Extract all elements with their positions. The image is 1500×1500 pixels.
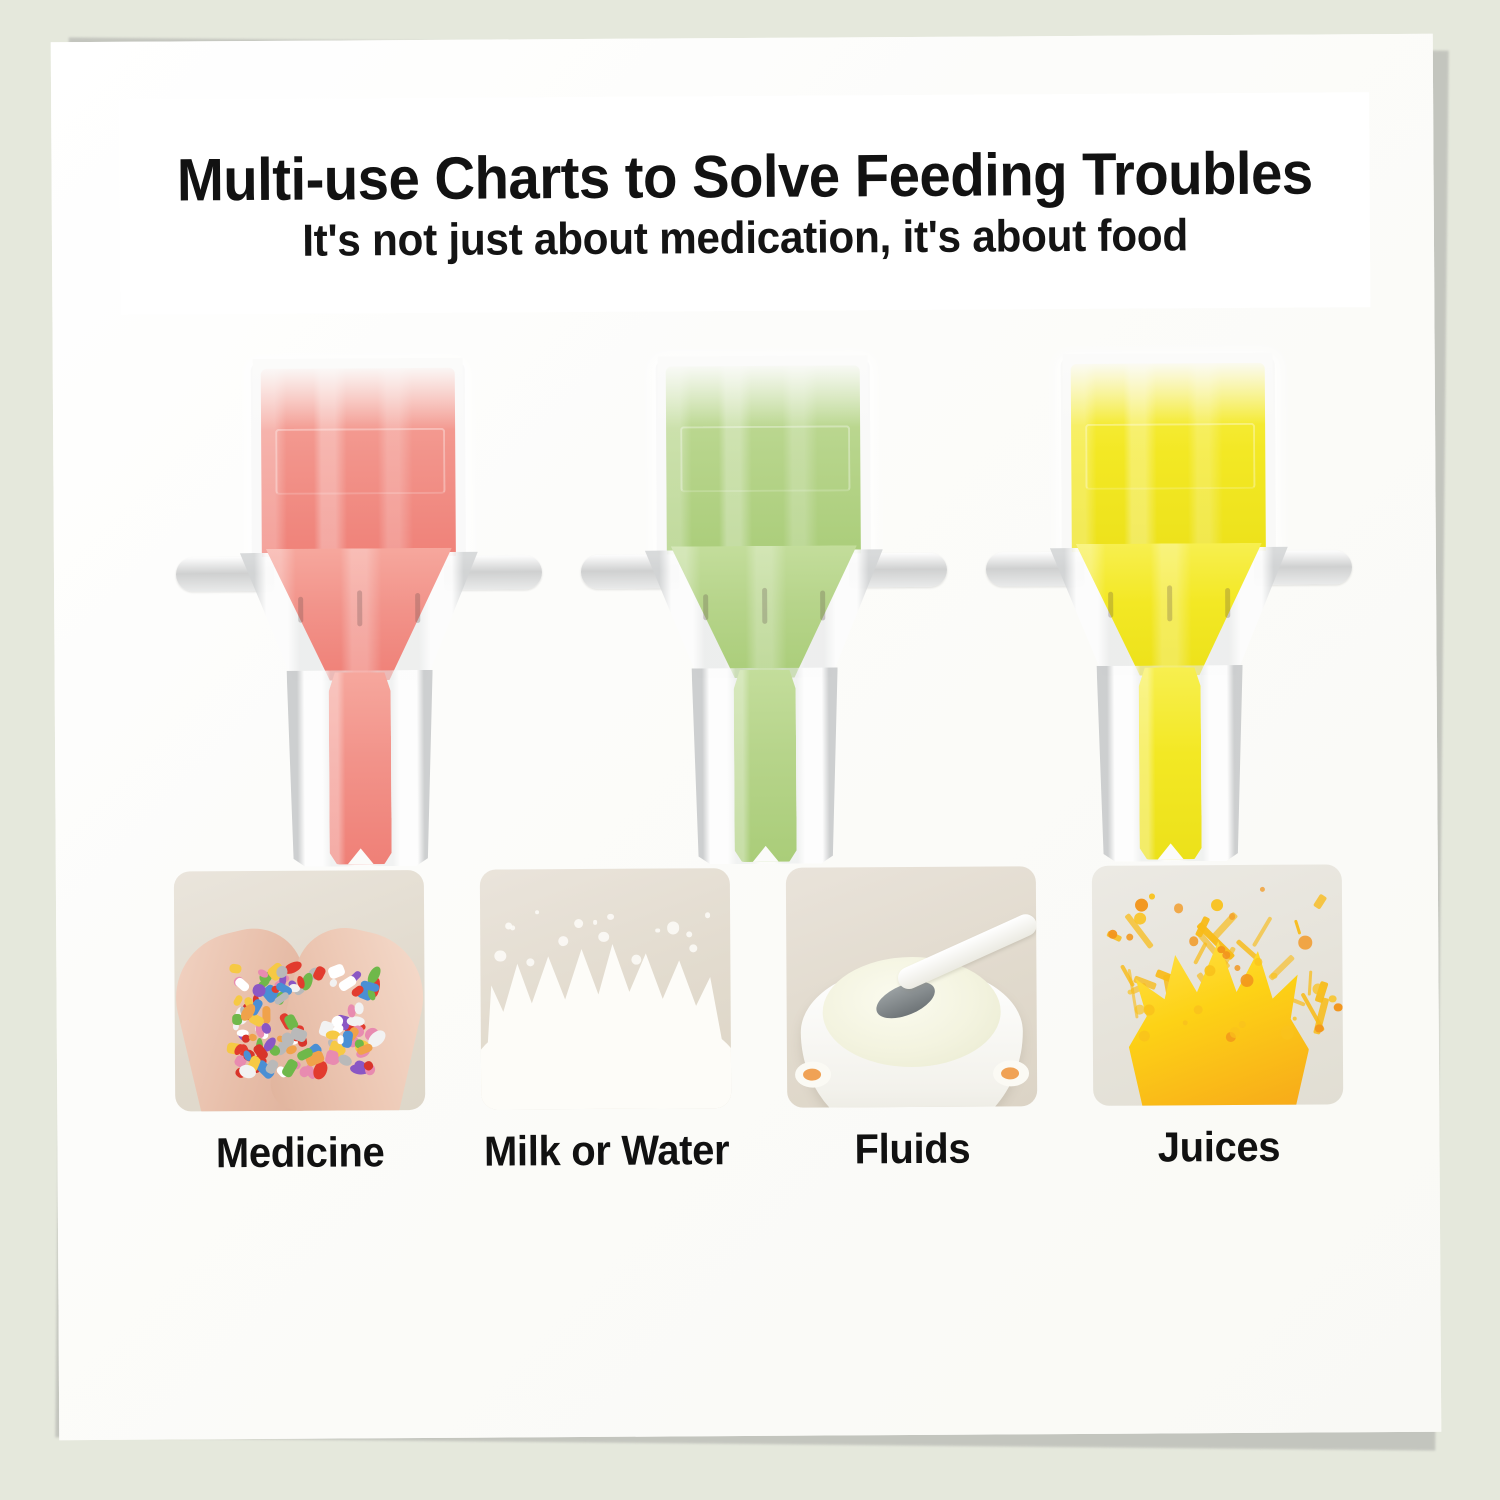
spout-liquid bbox=[734, 670, 797, 862]
feeder-coral bbox=[193, 339, 526, 881]
product-infographic-card: Multi-use Charts to Solve Feeding Troubl… bbox=[51, 34, 1442, 1440]
milk-splash-photo bbox=[480, 868, 731, 1110]
pill-pile bbox=[226, 962, 377, 1083]
bowl-handle-left bbox=[795, 1061, 831, 1087]
feeder-yellow bbox=[1003, 334, 1336, 876]
use-case-label: Milk or Water bbox=[484, 1126, 730, 1175]
page-title: Multi-use Charts to Solve Feeding Troubl… bbox=[176, 142, 1312, 212]
infographic-page: Multi-use Charts to Solve Feeding Troubl… bbox=[0, 0, 1500, 1500]
barrel-moulded-band bbox=[680, 425, 850, 492]
product-showcase-row bbox=[148, 334, 1361, 881]
page-subtitle: It's not just about medication, it's abo… bbox=[302, 212, 1188, 265]
use-case-milk: Milk or Water bbox=[452, 868, 760, 1176]
use-case-juices: Juices bbox=[1064, 864, 1372, 1172]
spout-liquid bbox=[329, 672, 392, 864]
use-case-medicine: Medicine bbox=[146, 870, 454, 1178]
barrel-moulded-band bbox=[275, 428, 445, 495]
spout-liquid bbox=[1139, 667, 1202, 859]
neck-ribs bbox=[298, 590, 420, 631]
pills-in-hands-photo bbox=[174, 870, 425, 1112]
use-case-fluids: Fluids bbox=[758, 866, 1066, 1174]
neck-ribs bbox=[703, 588, 825, 629]
barrel-moulded-band bbox=[1085, 423, 1255, 490]
bowl-handle-right bbox=[993, 1060, 1029, 1086]
feeder-green bbox=[598, 337, 931, 879]
use-case-label: Fluids bbox=[854, 1125, 970, 1174]
juice-splash-photo bbox=[1092, 864, 1343, 1106]
neck-ribs bbox=[1108, 585, 1230, 626]
title-band: Multi-use Charts to Solve Feeding Troubl… bbox=[119, 92, 1370, 315]
use-case-label: Medicine bbox=[216, 1128, 385, 1177]
yogurt-bowl-photo bbox=[786, 866, 1037, 1108]
use-case-row: Medicine Milk or Water bbox=[146, 864, 1373, 1171]
use-case-label: Juices bbox=[1157, 1123, 1280, 1172]
